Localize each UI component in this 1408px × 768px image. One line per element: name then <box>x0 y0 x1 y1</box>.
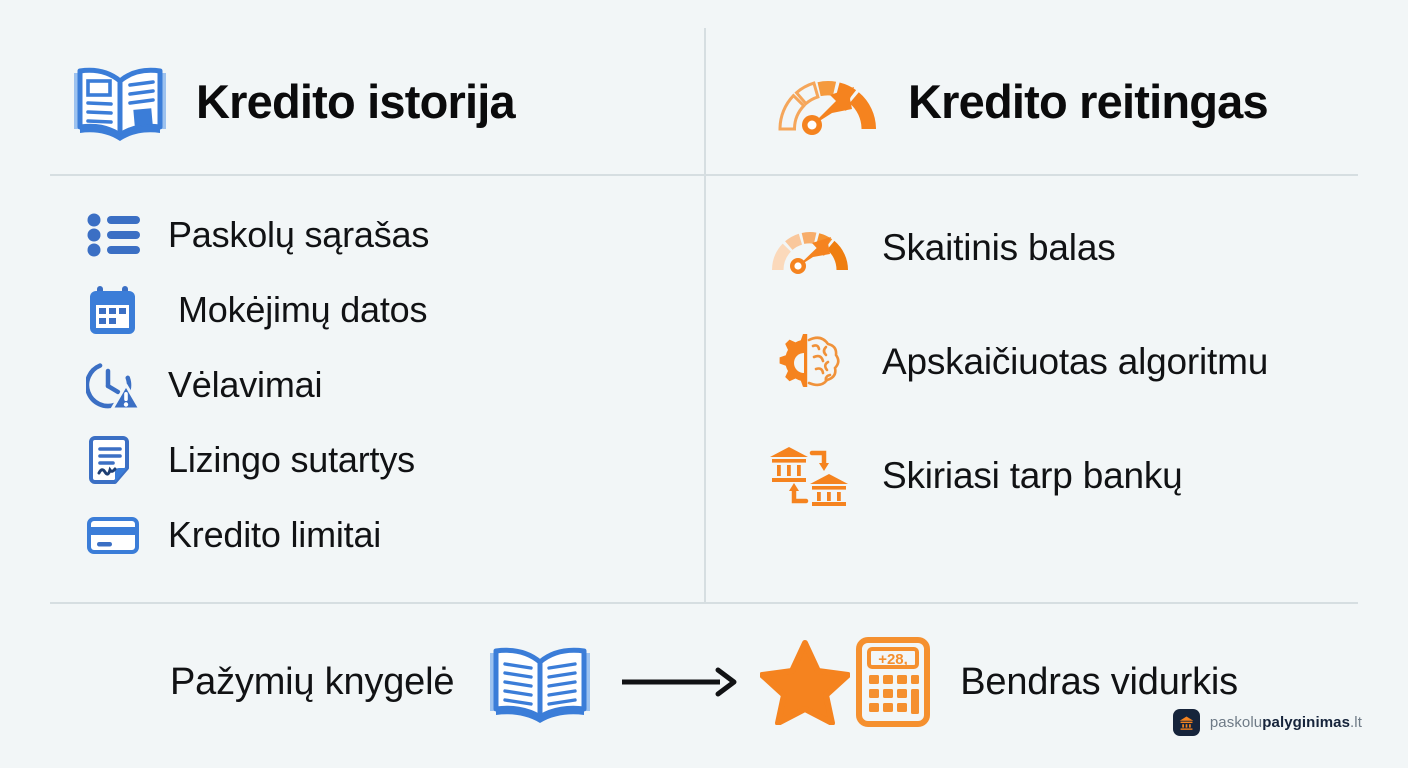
list-item-label: Apskaičiuotas algoritmu <box>882 341 1268 383</box>
watermark-suffix: .lt <box>1350 714 1362 731</box>
bottom-left-label: Pažymių knygelė <box>170 661 454 704</box>
list-item-label: Skiriasi tarp bankų <box>882 455 1183 497</box>
gauge-icon <box>768 216 852 280</box>
star-icon <box>760 639 850 725</box>
list-item-label: Vėlavimai <box>168 364 322 406</box>
bottom-horizontal-divider <box>50 602 1358 604</box>
gear-brain-icon <box>768 330 852 394</box>
credit-card-icon <box>86 509 142 561</box>
list-item-label: Mokėjimų datos <box>168 289 427 331</box>
list-item: Lizingo sutartys <box>86 428 429 492</box>
calculator-icon: +28, <box>856 637 930 727</box>
left-column-title: Kredito istorija <box>196 74 515 129</box>
bank-transfer-icon <box>768 444 852 508</box>
infographic-root: Kredito istorija Kredito reitingas <box>0 0 1408 768</box>
calendar-icon <box>86 284 142 336</box>
left-feature-list: Paskolų sąrašas Mokėjimų datos <box>86 203 429 567</box>
list-item: Paskolų sąrašas <box>86 203 429 267</box>
watermark-text: paskolupalyginimas.lt <box>1210 714 1362 731</box>
list-item-label: Kredito limitai <box>168 514 381 556</box>
right-column-header: Kredito reitingas <box>772 56 1268 146</box>
watermark-bold: palyginimas <box>1262 714 1350 731</box>
right-column-title: Kredito reitingas <box>908 74 1268 129</box>
list-item: Apskaičiuotas algoritmu <box>768 324 1268 400</box>
vertical-divider <box>704 28 706 602</box>
top-horizontal-divider <box>50 174 1358 176</box>
open-book-icon <box>68 59 172 143</box>
left-column-header: Kredito istorija <box>68 56 515 146</box>
list-item-label: Lizingo sutartys <box>168 439 415 481</box>
list-item-label: Skaitinis balas <box>882 227 1116 269</box>
bullet-list-icon <box>86 209 142 261</box>
signed-document-icon <box>86 434 142 486</box>
open-book-icon <box>484 639 596 725</box>
right-feature-list: Skaitinis balas <box>768 210 1268 514</box>
bank-badge-icon <box>1173 709 1200 736</box>
bottom-right-label: Bendras vidurkis <box>960 661 1238 704</box>
watermark-prefix: paskolu <box>1210 714 1262 731</box>
calculator-display-text: +28, <box>878 651 908 668</box>
list-item: Vėlavimai <box>86 353 429 417</box>
list-item: Kredito limitai <box>86 503 429 567</box>
list-item: Skiriasi tarp bankų <box>768 438 1268 514</box>
list-item: Skaitinis balas <box>768 210 1268 286</box>
site-watermark: paskolupalyginimas.lt <box>1173 709 1362 736</box>
list-item-label: Paskolų sąrašas <box>168 214 429 256</box>
clock-warning-icon <box>86 359 142 411</box>
right-arrow-icon <box>618 662 738 702</box>
list-item: Mokėjimų datos <box>86 278 429 342</box>
gauge-icon <box>772 65 884 137</box>
